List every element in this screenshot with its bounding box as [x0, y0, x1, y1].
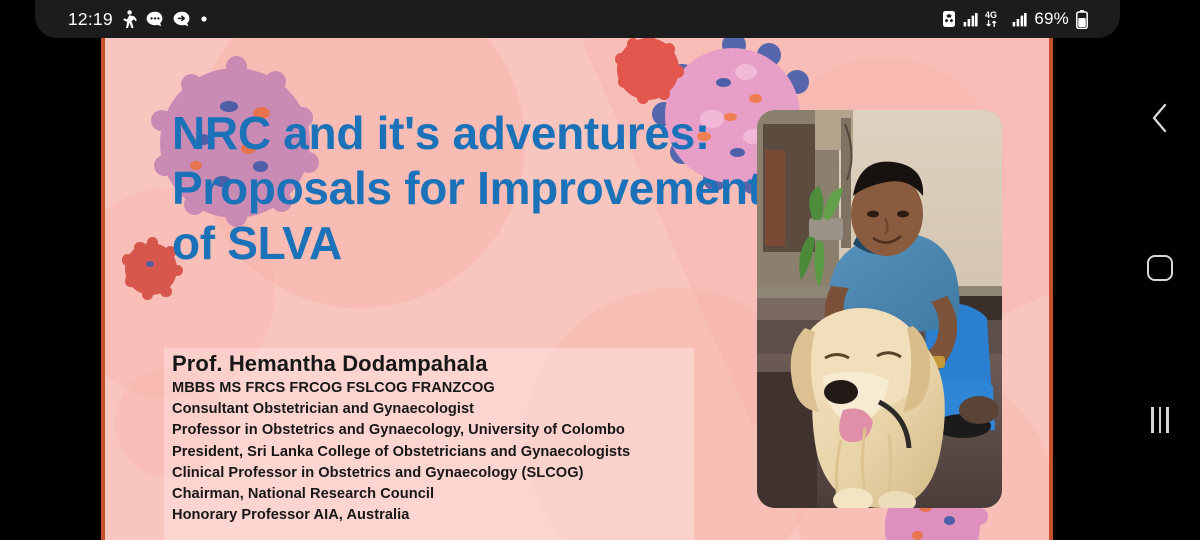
- credentials-block: Prof. Hemantha Dodampahala MBBS MS FRCS …: [172, 350, 732, 526]
- status-bar[interactable]: 12:19 4G: [35, 0, 1120, 38]
- data-saver-icon: [942, 10, 956, 28]
- credential-line: Consultant Obstetrician and Gynaecologis…: [172, 399, 732, 420]
- virus-graphic-red-left: [125, 243, 177, 295]
- credential-line: Professor in Obstetrics and Gynaecology,…: [172, 420, 732, 441]
- message-sent-bubble-icon: [173, 11, 191, 27]
- chat-bubble-icon: [146, 11, 164, 27]
- status-bar-left: 12:19: [35, 9, 208, 30]
- signal-bars-sim1-icon: [963, 12, 978, 27]
- battery-percent-label: 69%: [1034, 9, 1069, 29]
- back-chevron-icon[interactable]: [1120, 90, 1200, 146]
- signal-bars-sim2-icon: [1012, 12, 1027, 27]
- slide-title: NRC and it's adventures: Proposals for I…: [172, 106, 772, 271]
- presentation-slide[interactable]: NRC and it's adventures: Proposals for I…: [101, 38, 1053, 540]
- status-bar-right: 4G 69%: [942, 9, 1120, 29]
- status-clock: 12:19: [68, 9, 113, 30]
- home-square-icon[interactable]: [1120, 240, 1200, 296]
- credential-line: Honorary Professor AIA, Australia: [172, 505, 732, 526]
- walking-pedometer-icon: [122, 10, 137, 29]
- credential-line: MBBS MS FRCS FRCOG FSLCOG FRANZCOG: [172, 378, 732, 399]
- virus-graphic-red-small: [617, 38, 679, 100]
- credential-line: Clinical Professor in Obstetrics and Gyn…: [172, 463, 732, 484]
- network-4g-icon: 4G: [985, 10, 1005, 28]
- presenter-name: Prof. Hemantha Dodampahala: [172, 350, 732, 378]
- navigation-bar: [1120, 0, 1200, 540]
- battery-icon: [1076, 10, 1088, 29]
- svg-text:4G: 4G: [985, 10, 997, 20]
- presenter-photo[interactable]: [757, 110, 1002, 508]
- notification-dot-icon: [200, 15, 208, 23]
- phone-screen: NRC and it's adventures: Proposals for I…: [0, 0, 1200, 540]
- recents-bars-icon[interactable]: [1120, 392, 1200, 448]
- credential-line: President, Sri Lanka College of Obstetri…: [172, 442, 732, 463]
- credential-line: Chairman, National Research Council: [172, 484, 732, 505]
